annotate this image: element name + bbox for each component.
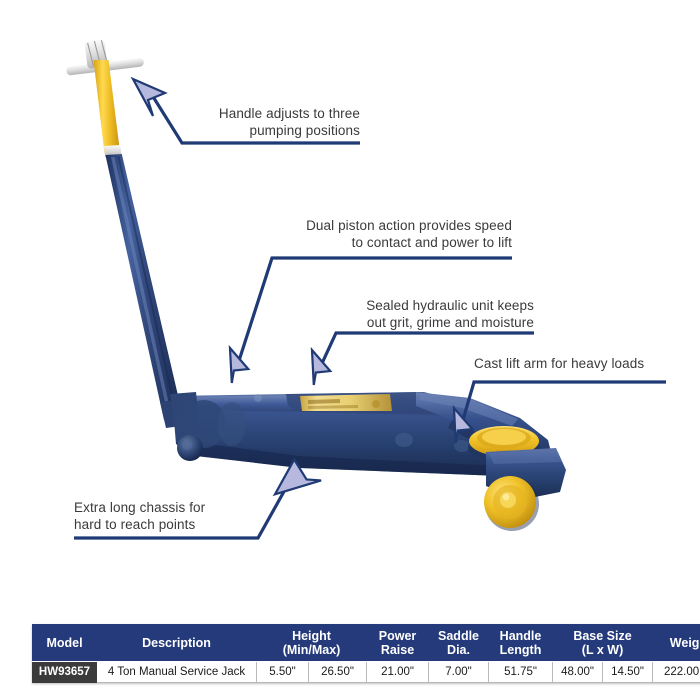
callout-dual-piston: Dual piston action provides speed to con… bbox=[262, 218, 512, 251]
arrowhead-dual-piston bbox=[216, 348, 253, 387]
col-header-height: Height (Min/Max) bbox=[257, 625, 367, 662]
col-header-base-size: Base Size (L x W) bbox=[553, 625, 653, 662]
cell-saddle-dia: 7.00" bbox=[429, 662, 489, 683]
cell-height-max: 26.50" bbox=[309, 662, 367, 683]
cell-base-width: 14.50" bbox=[603, 662, 653, 683]
handle-upper-yellow bbox=[94, 60, 121, 154]
cell-description: 4 Ton Manual Service Jack bbox=[97, 662, 257, 683]
cell-model: HW93657 bbox=[33, 662, 97, 683]
col-header-description: Description bbox=[97, 625, 257, 662]
col-header-weight: Weight bbox=[653, 625, 700, 662]
callout-sealed-hydraulic: Sealed hydraulic unit keeps out grit, gr… bbox=[330, 298, 534, 331]
callout-extra-long-chassis: Extra long chassis for hard to reach poi… bbox=[74, 500, 274, 533]
product-label bbox=[300, 394, 392, 411]
handle-lower-blue bbox=[105, 154, 183, 420]
callout-handle-positions: Handle adjusts to three pumping position… bbox=[178, 106, 360, 139]
cell-power-raise: 21.00" bbox=[367, 662, 429, 683]
table-header-row: Model Description Height (Min/Max) Power… bbox=[33, 625, 700, 662]
chassis-bolt bbox=[254, 394, 262, 402]
col-header-model: Model bbox=[33, 625, 97, 662]
cell-height-min: 5.50" bbox=[257, 662, 309, 683]
cell-base-length: 48.00" bbox=[553, 662, 603, 683]
cell-weight: 222.00 lbs bbox=[653, 662, 700, 683]
col-header-power-raise: Power Raise bbox=[367, 625, 429, 662]
product-diagram-page: Handle adjusts to three pumping position… bbox=[0, 0, 700, 700]
rear-caster-wheel bbox=[177, 435, 203, 461]
arrowhead-sealed-hydraulic bbox=[298, 350, 335, 389]
table-row: HW93657 4 Ton Manual Service Jack 5.50" … bbox=[33, 662, 700, 683]
col-header-saddle-dia: Saddle Dia. bbox=[429, 625, 489, 662]
callout-cast-lift-arm: Cast lift arm for heavy loads bbox=[474, 356, 674, 373]
specification-table: Model Description Height (Min/Max) Power… bbox=[32, 624, 700, 683]
jack-handle bbox=[66, 39, 196, 428]
chassis-boss bbox=[395, 433, 413, 447]
cell-handle-length: 51.75" bbox=[489, 662, 553, 683]
col-header-handle-length: Handle Length bbox=[489, 625, 553, 662]
